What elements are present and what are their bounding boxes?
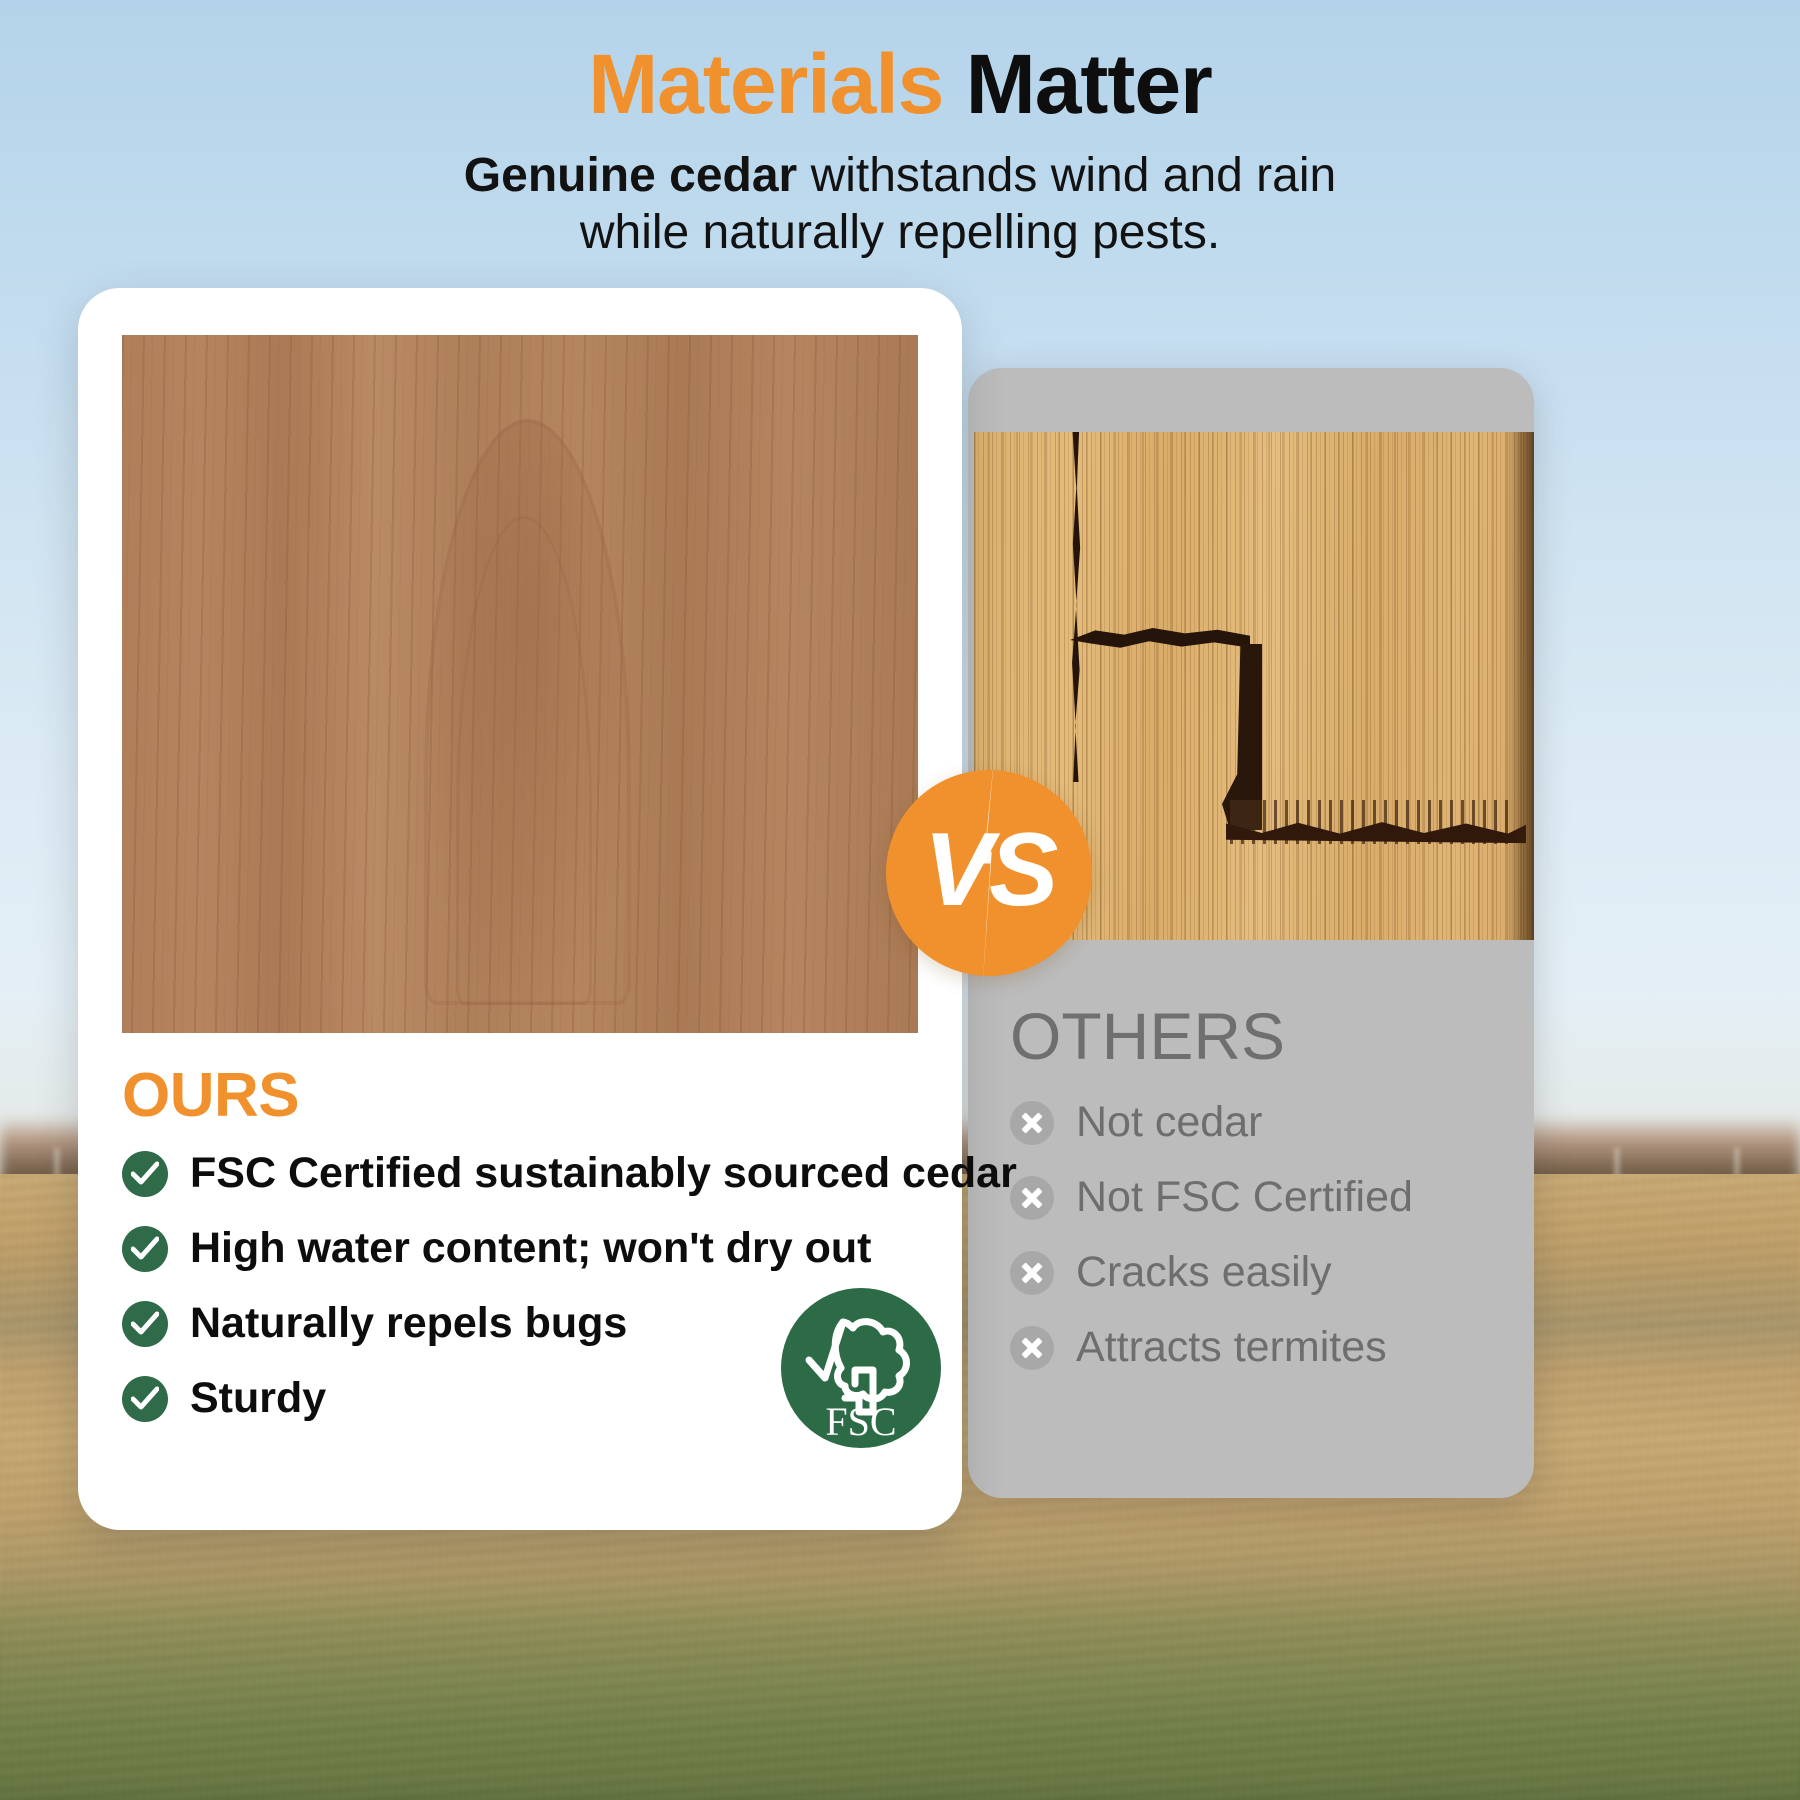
others-heading: OTHERS	[1010, 998, 1492, 1074]
page-title-accent: Materials	[588, 37, 943, 131]
x-mark-icon	[1010, 1101, 1054, 1145]
list-item: Cracks easily	[1010, 1248, 1492, 1297]
fsc-logo: FSC	[781, 1288, 941, 1448]
page-subtitle-line1: Genuine cedar withstands wind and rain	[0, 148, 1800, 205]
x-mark-icon	[1010, 1326, 1054, 1370]
others-content: OTHERS Not cedar Not FSC Certified Crack…	[968, 998, 1534, 1398]
others-item-label: Not FSC Certified	[1076, 1173, 1413, 1222]
vs-badge-label: VS	[886, 770, 1092, 976]
others-item-label: Cracks easily	[1076, 1248, 1332, 1297]
list-item: High water content; won't dry out	[122, 1224, 918, 1273]
check-mark-icon	[122, 1151, 168, 1197]
ours-card: OURS FSC Certified sustainably sourced c…	[78, 288, 962, 1530]
check-mark-icon	[122, 1301, 168, 1347]
ours-heading: OURS	[122, 1060, 918, 1131]
list-item: Attracts termites	[1010, 1323, 1492, 1372]
page-subtitle-line2: while naturally repelling pests.	[0, 205, 1800, 262]
check-mark-icon	[122, 1376, 168, 1422]
check-mark-icon	[122, 1226, 168, 1272]
x-mark-icon	[1010, 1251, 1054, 1295]
comparison-section: OTHERS Not cedar Not FSC Certified Crack…	[0, 0, 1800, 1800]
others-item-label: Not cedar	[1076, 1098, 1262, 1147]
ours-item-label: FSC Certified sustainably sourced cedar	[190, 1149, 1017, 1198]
ours-product-image	[122, 335, 918, 1033]
others-feature-list: Not cedar Not FSC Certified Cracks easil…	[1010, 1098, 1492, 1372]
board-edge-shadow	[1506, 432, 1534, 940]
list-item: Not cedar	[1010, 1098, 1492, 1147]
ours-item-label: Sturdy	[190, 1374, 326, 1423]
page-title-rest: Matter	[943, 37, 1211, 131]
vs-badge: VS	[886, 770, 1092, 976]
page-title: Materials Matter	[0, 42, 1800, 126]
fsc-logo-text: FSC	[825, 1399, 896, 1444]
list-item: FSC Certified sustainably sourced cedar	[122, 1149, 918, 1198]
header: Materials Matter Genuine cedar withstand…	[0, 42, 1800, 261]
page-subtitle: Genuine cedar withstands wind and rain w…	[0, 148, 1800, 261]
others-item-label: Attracts termites	[1076, 1323, 1387, 1372]
page-subtitle-rest: withstands wind and rain	[797, 149, 1336, 202]
page-subtitle-bold: Genuine cedar	[464, 149, 797, 202]
ours-item-label: High water content; won't dry out	[190, 1224, 871, 1273]
list-item: Not FSC Certified	[1010, 1173, 1492, 1222]
ours-item-label: Naturally repels bugs	[190, 1299, 627, 1348]
